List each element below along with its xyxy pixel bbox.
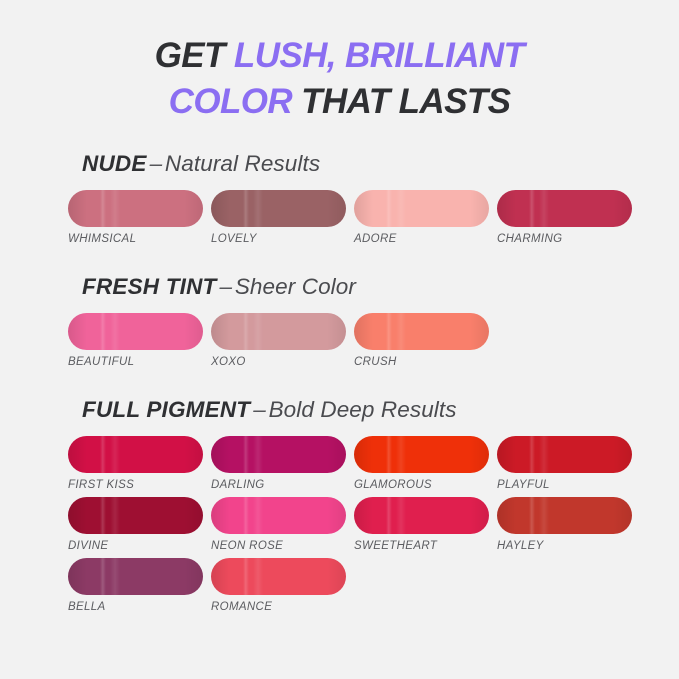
swatch-hayley[interactable] <box>497 497 632 534</box>
lipstick-shade-chart: GET LUSH, BRILLIANT COLOR THAT LASTS NUD… <box>0 0 679 679</box>
swatch-cell-playful[interactable]: PLAYFUL <box>497 436 632 491</box>
headline-text-that-lasts: THAT LASTS <box>301 82 510 121</box>
swatch-cell-adore[interactable]: ADORE <box>354 190 489 245</box>
swatch-label-romance: ROMANCE <box>211 601 346 613</box>
swatch-rows-fresh-tint: BEAUTIFUL XOXO CRUSH <box>0 313 679 368</box>
swatch-cell-first-kiss[interactable]: FIRST KISS <box>68 436 203 491</box>
swatch-label-adore: ADORE <box>354 233 489 245</box>
swatch-label-bella: BELLA <box>68 601 203 613</box>
page-title: GET LUSH, BRILLIANT COLOR THAT LASTS <box>0 0 679 125</box>
swatch-crush[interactable] <box>354 313 489 350</box>
section-name-fresh-tint: FRESH TINT <box>82 274 217 299</box>
swatch-playful[interactable] <box>497 436 632 473</box>
swatch-cell-neon-rose[interactable]: NEON ROSE <box>211 497 346 552</box>
headline-text-lush-brilliant: LUSH, BRILLIANT <box>234 36 524 75</box>
swatch-cell-glamorous[interactable]: GLAMOROUS <box>354 436 489 491</box>
swatch-label-divine: DIVINE <box>68 540 203 552</box>
swatch-cell-whimsical[interactable]: WHIMSICAL <box>68 190 203 245</box>
swatch-cell-crush[interactable]: CRUSH <box>354 313 489 368</box>
swatch-cell-charming[interactable]: CHARMING <box>497 190 632 245</box>
section-fresh-tint: FRESH TINT–Sheer Color BEAUTIFUL XOXO CR… <box>0 274 679 368</box>
swatch-label-xoxo: XOXO <box>211 356 346 368</box>
headline-line-1: GET LUSH, BRILLIANT <box>40 33 639 79</box>
swatch-cell-hayley[interactable]: HAYLEY <box>497 497 632 552</box>
swatch-cell-darling[interactable]: DARLING <box>211 436 346 491</box>
section-subtitle-full-pigment: Bold Deep Results <box>269 397 457 422</box>
section-dash-full-pigment: – <box>250 397 268 422</box>
swatch-cell-beautiful[interactable]: BEAUTIFUL <box>68 313 203 368</box>
swatch-label-charming: CHARMING <box>497 233 632 245</box>
section-name-nude: NUDE <box>82 151 147 176</box>
swatch-xoxo[interactable] <box>211 313 346 350</box>
swatch-row: WHIMSICAL LOVELY ADORE CHARMING <box>68 190 679 245</box>
swatch-darling[interactable] <box>211 436 346 473</box>
section-nude: NUDE–Natural Results WHIMSICAL LOVELY AD… <box>0 151 679 245</box>
swatch-glamorous[interactable] <box>354 436 489 473</box>
swatch-label-hayley: HAYLEY <box>497 540 632 552</box>
swatch-cell-romance[interactable]: ROMANCE <box>211 558 346 613</box>
swatch-label-sweetheart: SWEETHEART <box>354 540 489 552</box>
swatch-label-first-kiss: FIRST KISS <box>68 479 203 491</box>
swatch-first-kiss[interactable] <box>68 436 203 473</box>
swatch-cell-bella[interactable]: BELLA <box>68 558 203 613</box>
headline-text-get: GET <box>155 36 234 75</box>
swatch-label-beautiful: BEAUTIFUL <box>68 356 203 368</box>
section-header-nude: NUDE–Natural Results <box>0 151 679 177</box>
swatch-beautiful[interactable] <box>68 313 203 350</box>
swatch-cell-sweetheart[interactable]: SWEETHEART <box>354 497 489 552</box>
swatch-cell-divine[interactable]: DIVINE <box>68 497 203 552</box>
swatch-label-glamorous: GLAMOROUS <box>354 479 489 491</box>
swatch-row: DIVINE NEON ROSE SWEETHEART HAYLEY <box>68 497 679 552</box>
section-dash-fresh-tint: – <box>217 274 235 299</box>
swatch-row: FIRST KISS DARLING GLAMOROUS PLAYFUL <box>68 436 679 491</box>
swatch-sweetheart[interactable] <box>354 497 489 534</box>
swatch-lovely[interactable] <box>211 190 346 227</box>
section-subtitle-fresh-tint: Sheer Color <box>235 274 356 299</box>
swatch-charming[interactable] <box>497 190 632 227</box>
swatch-adore[interactable] <box>354 190 489 227</box>
swatch-label-neon-rose: NEON ROSE <box>211 540 346 552</box>
swatch-cell-xoxo[interactable]: XOXO <box>211 313 346 368</box>
headline-text-color: COLOR <box>169 82 302 121</box>
swatch-label-playful: PLAYFUL <box>497 479 632 491</box>
swatch-divine[interactable] <box>68 497 203 534</box>
swatch-label-darling: DARLING <box>211 479 346 491</box>
swatch-cell-lovely[interactable]: LOVELY <box>211 190 346 245</box>
swatch-label-whimsical: WHIMSICAL <box>68 233 203 245</box>
section-subtitle-nude: Natural Results <box>165 151 320 176</box>
swatch-row: BEAUTIFUL XOXO CRUSH <box>68 313 679 368</box>
swatch-row: BELLA ROMANCE <box>68 558 679 613</box>
shade-sections: NUDE–Natural Results WHIMSICAL LOVELY AD… <box>0 151 679 613</box>
section-dash-nude: – <box>147 151 165 176</box>
swatch-label-crush: CRUSH <box>354 356 489 368</box>
swatch-whimsical[interactable] <box>68 190 203 227</box>
swatch-label-lovely: LOVELY <box>211 233 346 245</box>
section-full-pigment: FULL PIGMENT–Bold Deep Results FIRST KIS… <box>0 397 679 613</box>
section-header-fresh-tint: FRESH TINT–Sheer Color <box>0 274 679 300</box>
headline-line-2: COLOR THAT LASTS <box>40 79 639 125</box>
section-name-full-pigment: FULL PIGMENT <box>82 397 250 422</box>
swatch-neon-rose[interactable] <box>211 497 346 534</box>
swatch-rows-nude: WHIMSICAL LOVELY ADORE CHARMING <box>0 190 679 245</box>
section-header-full-pigment: FULL PIGMENT–Bold Deep Results <box>0 397 679 423</box>
swatch-romance[interactable] <box>211 558 346 595</box>
swatch-rows-full-pigment: FIRST KISS DARLING GLAMOROUS PLAYFUL <box>0 436 679 613</box>
swatch-bella[interactable] <box>68 558 203 595</box>
